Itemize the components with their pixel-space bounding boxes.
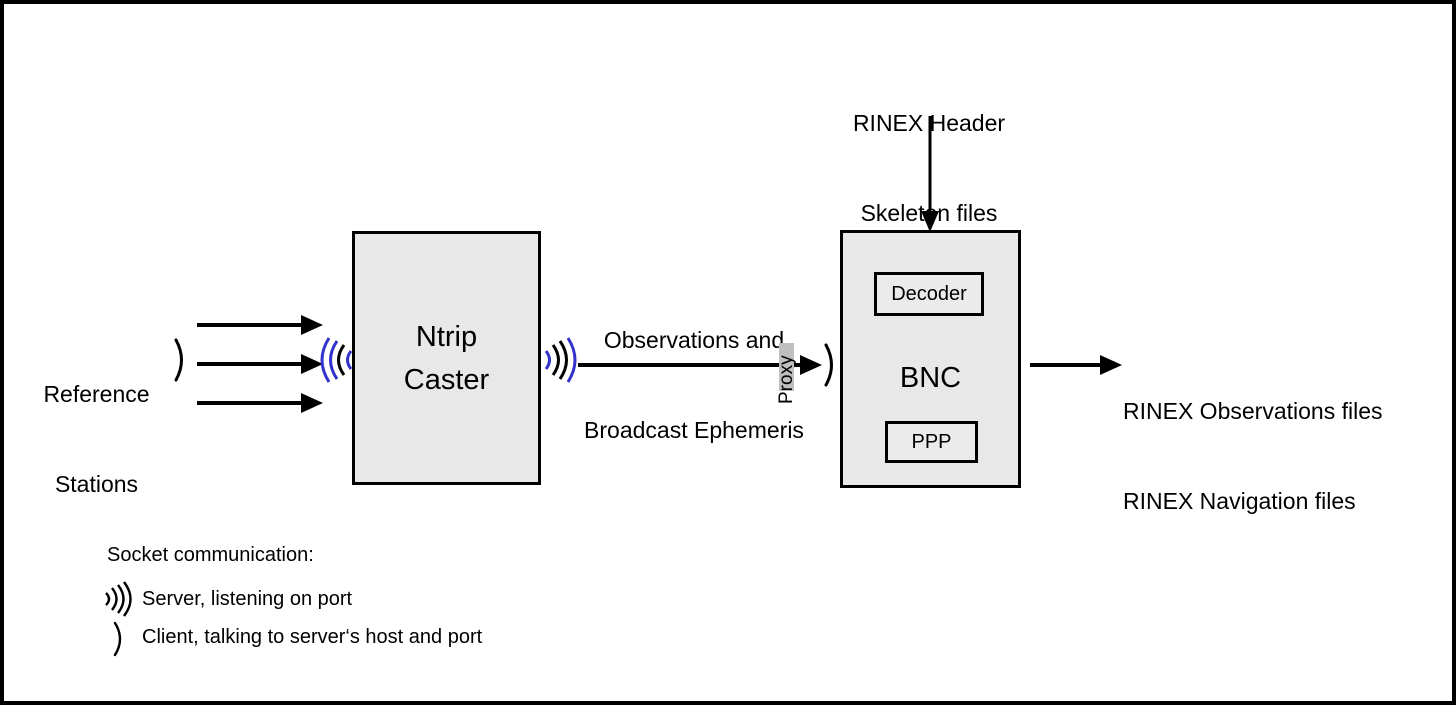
arrow-down-to-bnc-icon [910,116,952,234]
ppp-label: PPP [911,431,951,454]
legend-client-bracket-icon [112,621,132,657]
arrow-bnc-to-outputs-icon [1030,349,1126,371]
reference-stations-arrows-icon [197,309,327,419]
bnc-title: BNC [843,360,1018,396]
ppp-box[interactable]: PPP [885,421,978,463]
rinex-outputs-line1: RINEX Observations files [1123,396,1443,426]
legend-title: Socket communication: [107,542,314,568]
legend-item-server-label: Server, listening on port [142,586,352,612]
decoder-box[interactable]: Decoder [874,272,984,316]
reference-stations-label: Reference Stations [14,319,179,559]
signal-waves-left-icon [320,338,354,382]
proxy-label: Proxy [776,355,798,404]
legend-item-client-label: Client, talking to server‘s host and por… [142,624,482,650]
ntrip-caster-title-line2: Caster [355,362,538,398]
client-bracket-stations-icon [172,337,194,383]
observations-ephemeris-line2: Broadcast Ephemeris [564,415,824,445]
rinex-outputs-label: RINEX Observations files RINEX Navigatio… [1123,336,1443,576]
legend-signal-waves-icon [104,582,134,616]
ntrip-caster-box[interactable]: Ntrip Caster [352,231,541,485]
reference-stations-line2: Stations [14,469,179,499]
rinex-outputs-line2: RINEX Navigation files [1123,486,1443,516]
diagram-canvas: RINEX Header Skeleton files Reference St… [0,0,1456,705]
reference-stations-line1: Reference [14,379,179,409]
ntrip-caster-title-line1: Ntrip [355,319,538,355]
decoder-label: Decoder [891,283,967,306]
bnc-box[interactable]: Decoder BNC PPP [840,230,1021,488]
